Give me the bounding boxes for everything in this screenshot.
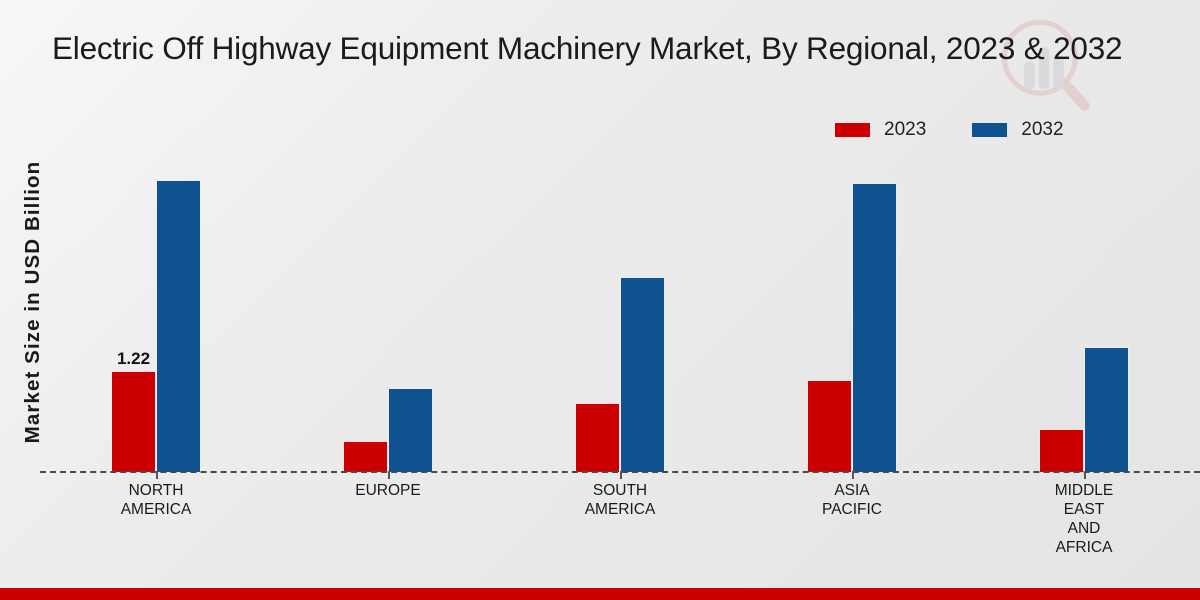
x-axis-label-line: AMERICA [504,500,736,519]
bar-group-middle-east-and-africa [968,150,1200,472]
bar-2023-asia-pacific[interactable] [807,380,852,472]
bars-middle-east-and-africa [1039,150,1129,472]
bar-2023-north-america[interactable]: 1.22 [111,371,156,472]
x-axis-tick [156,471,158,479]
legend-label-2032: 2032 [1021,119,1063,141]
legend-swatch-2023 [835,123,870,137]
x-axis-labels: NORTH AMERICA EUROPE SOUTH AMERICA ASIA … [40,481,1200,557]
bar-2032-middle-east-and-africa[interactable] [1084,347,1129,472]
x-axis-label-north-america: NORTH AMERICA [40,481,272,557]
bars-north-america: 1.22 [111,150,201,472]
chart-legend: 2023 2032 [835,119,1064,141]
bar-value-label: 1.22 [117,349,150,369]
bar-2032-asia-pacific[interactable] [852,183,897,472]
chart-container: Electric Off Highway Equipment Machinery… [0,0,1200,600]
bars-europe [343,150,433,472]
x-axis-label-line: ASIA [736,481,968,500]
bar-2023-middle-east-and-africa[interactable] [1039,429,1084,472]
bar-2032-south-america[interactable] [620,277,665,472]
x-axis-label-line: PACIFIC [736,500,968,519]
plot-area: 1.22 [40,150,1200,472]
bars-asia-pacific [807,150,897,472]
x-axis-tick [620,471,622,479]
bar-2023-europe[interactable] [343,441,388,472]
x-axis-label-asia-pacific: ASIA PACIFIC [736,481,968,557]
legend-label-2023: 2023 [884,119,926,141]
x-axis-label-line: SOUTH [504,481,736,500]
bar-2032-north-america[interactable] [156,180,201,472]
x-axis-label-europe: EUROPE [272,481,504,557]
bar-group-europe [272,150,504,472]
legend-item-2032[interactable]: 2032 [972,119,1063,141]
bar-group-south-america [504,150,736,472]
x-axis-tick [852,471,854,479]
x-axis-label-line: MIDDLE [968,481,1200,500]
x-axis-label-line: AFRICA [968,538,1200,557]
bar-group-asia-pacific [736,150,968,472]
x-axis-label-middle-east-and-africa: MIDDLE EAST AND AFRICA [968,481,1200,557]
bar-2023-south-america[interactable] [575,403,620,472]
bar-2032-europe[interactable] [388,388,433,472]
bars-south-america [575,150,665,472]
x-axis-label-line: AND [968,519,1200,538]
x-axis-tick [388,471,390,479]
x-axis-label-line: NORTH [40,481,272,500]
x-axis-label-line: EAST [968,500,1200,519]
footer-strip [0,588,1200,600]
chart-title: Electric Off Highway Equipment Machinery… [52,30,1200,67]
x-axis-label-south-america: SOUTH AMERICA [504,481,736,557]
x-axis-label-line: AMERICA [40,500,272,519]
legend-swatch-2032 [972,123,1007,137]
x-axis-tick [1084,471,1086,479]
legend-item-2023[interactable]: 2023 [835,119,926,141]
bar-group-north-america: 1.22 [40,150,272,472]
x-axis-label-line: EUROPE [272,481,504,500]
